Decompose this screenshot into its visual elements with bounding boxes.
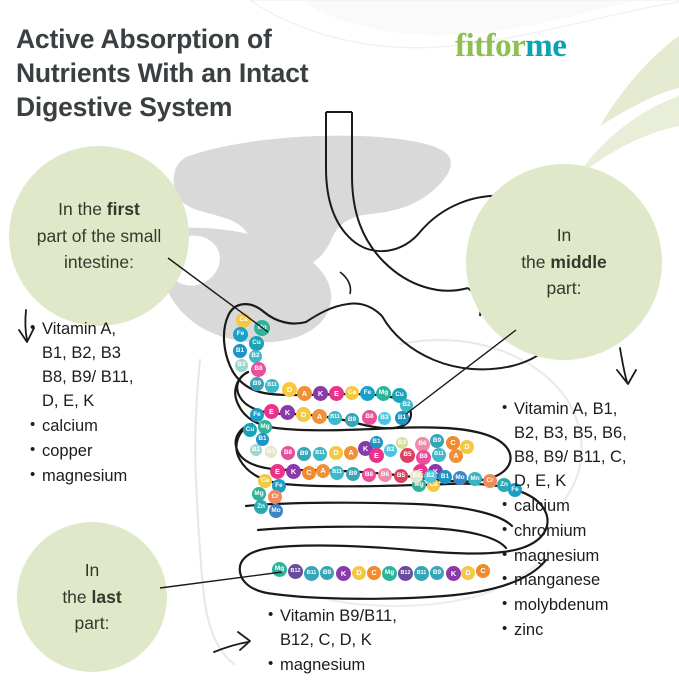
nutrient-list-item: Vitamin B9/B11, B12, C, D, K <box>268 605 468 653</box>
nutrient-bead: E <box>270 464 285 479</box>
nutrient-bead: C <box>476 564 490 578</box>
nutrient-list-last: Vitamin B9/B11, B12, C, D, Kmagnesium <box>268 605 468 679</box>
nutrient-bead: D <box>282 382 297 397</box>
nutrient-bead: Mo <box>453 471 467 485</box>
nutrient-bead: B9 <box>345 413 359 427</box>
callout-circle-first: In the firstpart of the smallintestine: <box>9 146 189 326</box>
esophagus-right-wall <box>352 112 468 291</box>
nutrient-bead: B11 <box>328 411 342 425</box>
title-line-3: Digestive System <box>16 90 436 124</box>
nutrient-list-item: calcium <box>502 495 679 519</box>
nutrient-bead: Mg <box>252 487 266 501</box>
nutrient-list-item: Vitamin A, B1, B2, B3 B8, B9/ B11, D, E,… <box>30 318 195 414</box>
nutrient-bead: Mg <box>254 320 270 336</box>
nutrient-bead: E <box>413 464 428 479</box>
nutrient-bead: A <box>312 409 327 424</box>
nutrient-bead: Fe <box>272 479 286 493</box>
nutrient-bead: C <box>367 566 381 580</box>
nutrient-bead: Mg <box>272 562 287 577</box>
nutrient-bead: B11 <box>265 379 279 393</box>
nutrient-bead: K <box>336 566 351 581</box>
nutrient-bead: B6 <box>415 437 430 452</box>
nutrient-bead: A <box>449 449 463 463</box>
nutrient-bead: D <box>352 566 366 580</box>
nutrient-bead: B8 <box>281 446 295 460</box>
connector-middle <box>406 330 516 414</box>
small-intestine-inner-2 <box>258 527 506 548</box>
nutrient-bead: B3 <box>235 359 248 372</box>
nutrient-bead: Mg <box>376 386 391 401</box>
title-line-2: Nutrients With an Intact <box>16 56 436 90</box>
nutrient-list-item: magnesium <box>268 654 468 678</box>
nutrient-bead: E <box>369 448 384 463</box>
nutrient-bead: D <box>329 446 343 460</box>
callout-circle-middle: Inthe middlepart: <box>466 164 662 360</box>
swoosh-green-lower <box>576 96 679 178</box>
nutrient-bead: B11 <box>330 466 344 480</box>
nutrient-bead: B9 <box>250 377 264 391</box>
nutrient-bead: K <box>280 405 295 420</box>
nutrient-bead: B9 <box>430 434 444 448</box>
nutrient-bead: E <box>264 404 279 419</box>
pylorus <box>306 304 382 323</box>
nutrient-list-item: magnesium <box>30 465 195 489</box>
nutrient-bead: A <box>297 386 312 401</box>
nutrient-bead: Mn <box>468 472 482 486</box>
esophagus-left-wall <box>326 112 420 251</box>
nutrient-list-item: molybdenum <box>502 594 679 618</box>
nutrient-bead: Mg <box>382 566 397 581</box>
nutrient-bead: B2 <box>250 444 262 456</box>
nutrient-list-item: manganese <box>502 569 679 593</box>
nutrient-bead: Mo <box>269 504 283 518</box>
nutrient-bead: B6 <box>378 468 392 482</box>
arrow-right-last <box>214 632 250 652</box>
nutrient-list-item: magnesium <box>502 545 679 569</box>
nutrient-list-first: Vitamin A, B1, B2, B3 B8, B9/ B11, D, E,… <box>30 318 195 489</box>
nutrient-list-item: chromium <box>502 520 679 544</box>
nutrient-bead: B2 <box>400 399 413 412</box>
nutrient-bead: Fe <box>233 327 248 342</box>
nutrient-bead: Cr <box>268 490 282 504</box>
nutrient-bead: B2 <box>249 350 262 363</box>
logo-text-green: fitfor <box>455 28 525 64</box>
connector-last <box>160 572 282 588</box>
page-title: Active Absorption of Nutrients With an I… <box>16 22 436 124</box>
nutrient-bead: D <box>460 440 474 454</box>
fitforme-logo: fitforme <box>455 28 566 65</box>
nutrient-bead: Cu <box>392 388 407 403</box>
nutrient-bead: B9 <box>320 566 334 580</box>
nutrient-bead: B3 <box>410 470 423 483</box>
nutrient-bead: Mg <box>412 478 426 492</box>
nutrient-bead: Mg <box>258 420 272 434</box>
nutrient-bead: B1 <box>395 411 409 425</box>
nutrient-bead: B9 <box>346 467 360 481</box>
nutrient-bead: K <box>358 441 373 456</box>
nutrient-bead: K <box>428 464 443 479</box>
swoosh-white-top <box>560 0 679 120</box>
infographic-canvas: CaMgFeCuB1B2B3B8B9B11DAKECaFeMgCuB2B1B3B… <box>0 0 679 680</box>
nutrient-bead: B1 <box>256 433 269 446</box>
nutrient-list-item: zinc <box>502 619 679 643</box>
callout-circle-middle-text: Inthe middlepart: <box>513 222 615 302</box>
nutrient-bead: D <box>461 566 475 580</box>
nutrient-bead: C <box>446 436 460 450</box>
nutrient-bead: B8 <box>251 362 266 377</box>
nutrient-bead: B11 <box>304 566 319 581</box>
arrow-down-middle <box>617 348 636 384</box>
callout-circle-last: Inthe lastpart: <box>17 522 167 672</box>
title-line-1: Active Absorption of <box>16 22 436 56</box>
colon-outline-left <box>195 360 234 664</box>
swoosh-green-upper <box>600 36 679 126</box>
callout-circle-last-text: Inthe lastpart: <box>54 557 129 637</box>
nutrient-bead: B3 <box>265 446 277 458</box>
nutrient-bead: B3 <box>378 412 391 425</box>
nutrient-list-item: copper <box>30 440 195 464</box>
nutrient-bead: B8 <box>416 450 431 465</box>
nutrient-bead: B1 <box>370 436 383 449</box>
duodenum-bulb-detail <box>340 272 351 294</box>
nutrient-bead: B11 <box>432 448 446 462</box>
nutrient-bead: B8 <box>362 468 376 482</box>
nutrient-bead: Cr <box>483 474 497 488</box>
nutrient-bead: B5 <box>400 448 415 463</box>
nutrient-bead: K <box>313 386 328 401</box>
nutrient-bead: B3 <box>396 437 408 449</box>
nutrient-bead: Ca <box>258 474 272 488</box>
nutrient-bead: Ca <box>427 479 440 492</box>
nutrient-bead: Fe <box>250 408 264 422</box>
nutrient-list-middle: Vitamin A, B1, B2, B3, B5, B6, B8, B9/ B… <box>502 398 679 644</box>
nutrient-bead: Ca <box>345 386 359 400</box>
nutrient-bead: B8 <box>362 410 377 425</box>
small-intestine-loop-2 <box>235 372 510 482</box>
nutrient-bead: B11 <box>414 566 429 581</box>
nutrient-bead: C <box>302 466 316 480</box>
nutrient-bead: Fe <box>360 386 375 401</box>
nutrient-bead: B1 <box>233 344 247 358</box>
nutrient-bead: B5 <box>394 469 408 483</box>
small-intestine-inner-1 <box>246 503 512 526</box>
nutrient-bead: B9 <box>297 447 311 461</box>
nutrient-bead: B1 <box>438 470 452 484</box>
nutrient-bead: B9 <box>430 566 444 580</box>
nutrient-bead: Ca <box>236 313 251 328</box>
nutrient-bead: B12 <box>288 564 303 579</box>
nutrient-bead: B2 <box>424 470 437 483</box>
nutrient-bead: K <box>446 566 461 581</box>
nutrient-bead: B2 <box>384 444 397 457</box>
logo-text-teal: me <box>525 28 566 64</box>
nutrient-list-item: calcium <box>30 415 195 439</box>
nutrient-bead: B12 <box>398 566 413 581</box>
nutrient-bead: K <box>286 464 301 479</box>
small-intestine-loop-3 <box>236 424 547 594</box>
nutrient-bead: D <box>296 407 311 422</box>
liver-silhouette <box>174 136 451 271</box>
callout-circle-first-text: In the firstpart of the smallintestine: <box>29 196 170 276</box>
nutrient-bead: B11 <box>313 447 327 461</box>
nutrient-list-item: Vitamin A, B1, B2, B3, B5, B6, B8, B9/ B… <box>502 398 679 494</box>
nutrient-bead: Cu <box>249 336 264 351</box>
nutrient-bead: E <box>329 386 344 401</box>
nutrient-bead: A <box>316 464 330 478</box>
nutrient-bead: Cu <box>243 423 257 437</box>
nutrient-bead: Zn <box>254 500 268 514</box>
small-intestine-loop-1 <box>224 304 411 428</box>
nutrient-bead: A <box>344 446 358 460</box>
